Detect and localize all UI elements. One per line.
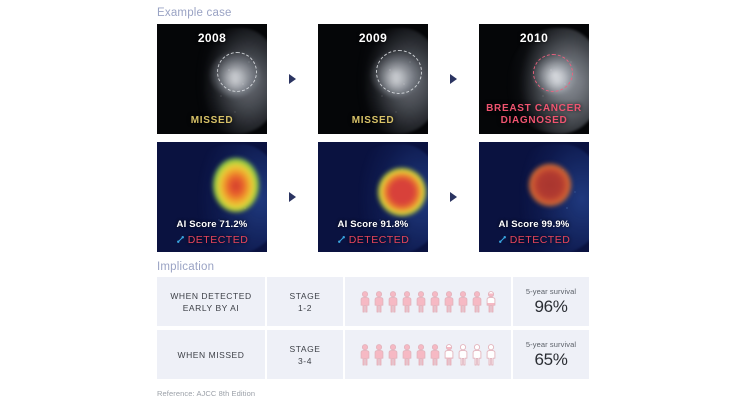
ai-heatmap-panel-2010[interactable]: AI Score 99.9% DETECTED bbox=[479, 142, 589, 252]
ai-score-label: AI Score 91.8% bbox=[318, 219, 428, 230]
chevron-right-icon bbox=[450, 192, 457, 202]
ai-detect-icon bbox=[498, 235, 507, 244]
row-survival-cell: 5-year survival 65% bbox=[513, 330, 589, 379]
person-icon bbox=[415, 291, 427, 313]
ai-activation-heat-blob bbox=[213, 158, 259, 212]
person-icon bbox=[415, 344, 427, 366]
chevron-right-icon bbox=[289, 74, 296, 84]
ai-heatmap-row: AI Score 71.2% DETECTED AI Score 91.8% bbox=[157, 142, 589, 252]
stage-line-1: STAGE bbox=[290, 343, 321, 355]
row-stage-cell: STAGE 3-4 bbox=[267, 330, 345, 379]
survival-pictogram bbox=[345, 277, 513, 326]
person-icon bbox=[457, 344, 469, 366]
detected-label: DETECTED bbox=[510, 234, 571, 246]
detected-row: DETECTED bbox=[318, 234, 428, 246]
ai-heatmap-panel-2008[interactable]: AI Score 71.2% DETECTED bbox=[157, 142, 267, 252]
person-icon bbox=[401, 291, 413, 313]
mammogram-panel-2009[interactable]: 2009 MISSED bbox=[318, 24, 428, 134]
section-title-example-case: Example case bbox=[157, 0, 589, 24]
infographic-root: Example case 2008 MISSED 2009 MISSED bbox=[157, 0, 589, 420]
arrow-separator-2 bbox=[428, 24, 479, 134]
survival-pictogram bbox=[345, 330, 513, 379]
stage-line-2: 3-4 bbox=[298, 355, 312, 367]
row-condition-cell: WHEN DETECTED EARLY BY AI bbox=[157, 277, 267, 326]
person-icon bbox=[359, 291, 371, 313]
lesion-marker-circle bbox=[217, 52, 257, 92]
mammogram-panel-2008[interactable]: 2008 MISSED bbox=[157, 24, 267, 134]
person-icon bbox=[457, 291, 469, 313]
reference-note: Reference: AJCC 8th Edition bbox=[157, 383, 589, 398]
mammogram-panel-2010[interactable]: 2010 BREAST CANCER DIAGNOSED bbox=[479, 24, 589, 134]
condition-line-1: WHEN DETECTED bbox=[170, 290, 251, 302]
survival-value: 96% bbox=[534, 297, 567, 317]
lesion-marker-circle bbox=[533, 54, 573, 92]
stage-line-1: STAGE bbox=[290, 290, 321, 302]
person-icon bbox=[429, 291, 441, 313]
status-line-2: DIAGNOSED bbox=[501, 115, 568, 126]
chevron-right-icon bbox=[450, 74, 457, 84]
person-icon bbox=[485, 291, 497, 313]
mammogram-row: 2008 MISSED 2009 MISSED 2010 BREAST CANC… bbox=[157, 24, 589, 134]
ai-activation-heat-blob bbox=[378, 168, 426, 216]
ai-detect-icon bbox=[176, 235, 185, 244]
person-icon bbox=[443, 291, 455, 313]
person-icon bbox=[373, 291, 385, 313]
detected-row: DETECTED bbox=[479, 234, 589, 246]
ai-score-label: AI Score 71.2% bbox=[157, 219, 267, 230]
condition-line-1: WHEN MISSED bbox=[178, 349, 245, 361]
mammogram-year-label: 2009 bbox=[318, 31, 428, 45]
survival-caption: 5-year survival bbox=[526, 340, 576, 349]
mammogram-year-label: 2008 bbox=[157, 31, 267, 45]
ai-activation-heat-blob bbox=[529, 164, 571, 206]
person-icon bbox=[485, 344, 497, 366]
arrow-separator-4 bbox=[428, 142, 479, 252]
person-icon bbox=[359, 344, 371, 366]
status-line-1: BREAST CANCER bbox=[486, 103, 582, 114]
lesion-marker-circle bbox=[376, 50, 422, 94]
person-icon bbox=[401, 344, 413, 366]
detected-label: DETECTED bbox=[188, 234, 249, 246]
table-row[interactable]: WHEN MISSED STAGE 3-4 5-year survival 65… bbox=[157, 330, 589, 379]
condition-line-2: EARLY BY AI bbox=[183, 302, 240, 314]
ai-heatmap-panel-2009[interactable]: AI Score 91.8% DETECTED bbox=[318, 142, 428, 252]
stage-line-2: 1-2 bbox=[298, 302, 312, 314]
survival-value: 65% bbox=[534, 350, 567, 370]
mammogram-status-label: BREAST CANCER DIAGNOSED bbox=[479, 103, 589, 127]
mammogram-year-label: 2010 bbox=[479, 31, 589, 45]
ai-detect-icon bbox=[337, 235, 346, 244]
section-title-implication: Implication bbox=[157, 252, 589, 278]
detected-label: DETECTED bbox=[349, 234, 410, 246]
person-icon bbox=[387, 291, 399, 313]
arrow-separator-1 bbox=[267, 24, 318, 134]
survival-caption: 5-year survival bbox=[526, 287, 576, 296]
mammogram-status-label: MISSED bbox=[318, 115, 428, 127]
chevron-right-icon bbox=[289, 192, 296, 202]
ai-score-label: AI Score 99.9% bbox=[479, 219, 589, 230]
mammogram-status-label: MISSED bbox=[157, 115, 267, 127]
arrow-separator-3 bbox=[267, 142, 318, 252]
person-icon bbox=[429, 344, 441, 366]
implication-table: WHEN DETECTED EARLY BY AI STAGE 1-2 5-ye… bbox=[157, 277, 589, 379]
person-icon bbox=[443, 344, 455, 366]
person-icon bbox=[387, 344, 399, 366]
detected-row: DETECTED bbox=[157, 234, 267, 246]
row-condition-cell: WHEN MISSED bbox=[157, 330, 267, 379]
person-icon bbox=[471, 291, 483, 313]
person-icon bbox=[373, 344, 385, 366]
table-row[interactable]: WHEN DETECTED EARLY BY AI STAGE 1-2 5-ye… bbox=[157, 277, 589, 326]
person-icon bbox=[471, 344, 483, 366]
row-stage-cell: STAGE 1-2 bbox=[267, 277, 345, 326]
row-survival-cell: 5-year survival 96% bbox=[513, 277, 589, 326]
